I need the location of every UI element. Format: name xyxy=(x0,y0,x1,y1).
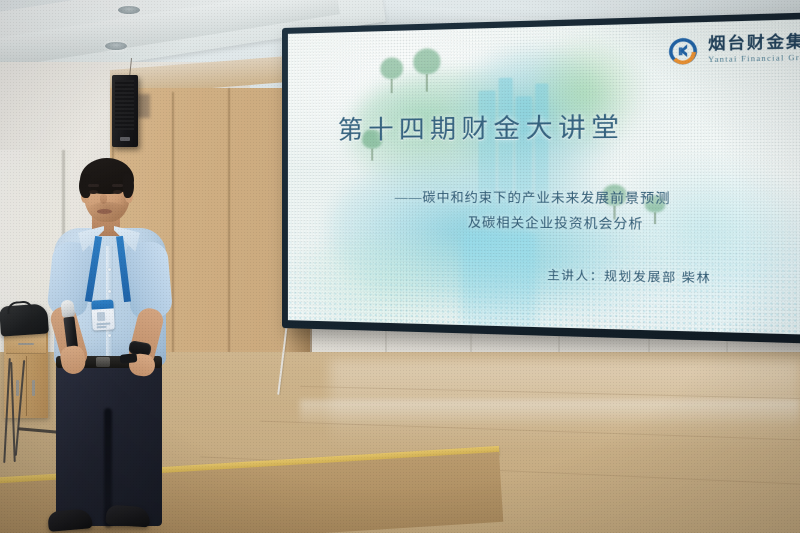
cable-bundle xyxy=(0,358,34,468)
downlight-icon xyxy=(105,42,127,50)
downlight-icon xyxy=(118,6,140,14)
photo-scene: 烟台财金集团 Yantai Financial Group 第十四期财金大讲堂 … xyxy=(0,0,800,533)
presentation-clicker[interactable] xyxy=(120,353,138,364)
cabinet-handle[interactable] xyxy=(18,343,34,345)
shoe-left xyxy=(47,508,93,532)
shirt-button xyxy=(108,290,111,293)
badge-text-line xyxy=(97,326,107,329)
eye-left xyxy=(89,190,98,194)
wall-display[interactable]: 烟台财金集团 Yantai Financial Group 第十四期财金大讲堂 … xyxy=(282,11,800,344)
shirt-button xyxy=(108,334,111,337)
speaker-logo xyxy=(120,137,130,141)
hair-side-right xyxy=(123,174,134,198)
belt-buckle xyxy=(96,357,110,367)
display-screen[interactable]: 烟台财金集团 Yantai Financial Group 第十四期财金大讲堂 … xyxy=(288,18,800,335)
badge-text-line xyxy=(96,323,110,326)
microphone-head xyxy=(60,299,75,317)
eyebrow-left xyxy=(88,184,99,187)
wood-panel-seam xyxy=(228,88,230,388)
speaker-bracket xyxy=(136,94,150,118)
eye-right xyxy=(113,190,122,194)
led-pixel-texture xyxy=(288,18,800,335)
badge-header xyxy=(91,299,113,309)
pa-speaker xyxy=(112,75,138,147)
nose xyxy=(100,194,107,204)
eyebrow-right xyxy=(112,184,123,187)
shirt-button xyxy=(108,268,111,271)
backpack-strap xyxy=(7,300,34,314)
badge-photo xyxy=(97,312,105,321)
id-badge xyxy=(91,299,115,330)
speaker-grille xyxy=(115,80,134,130)
mouth xyxy=(97,209,112,214)
presenter xyxy=(34,150,184,533)
